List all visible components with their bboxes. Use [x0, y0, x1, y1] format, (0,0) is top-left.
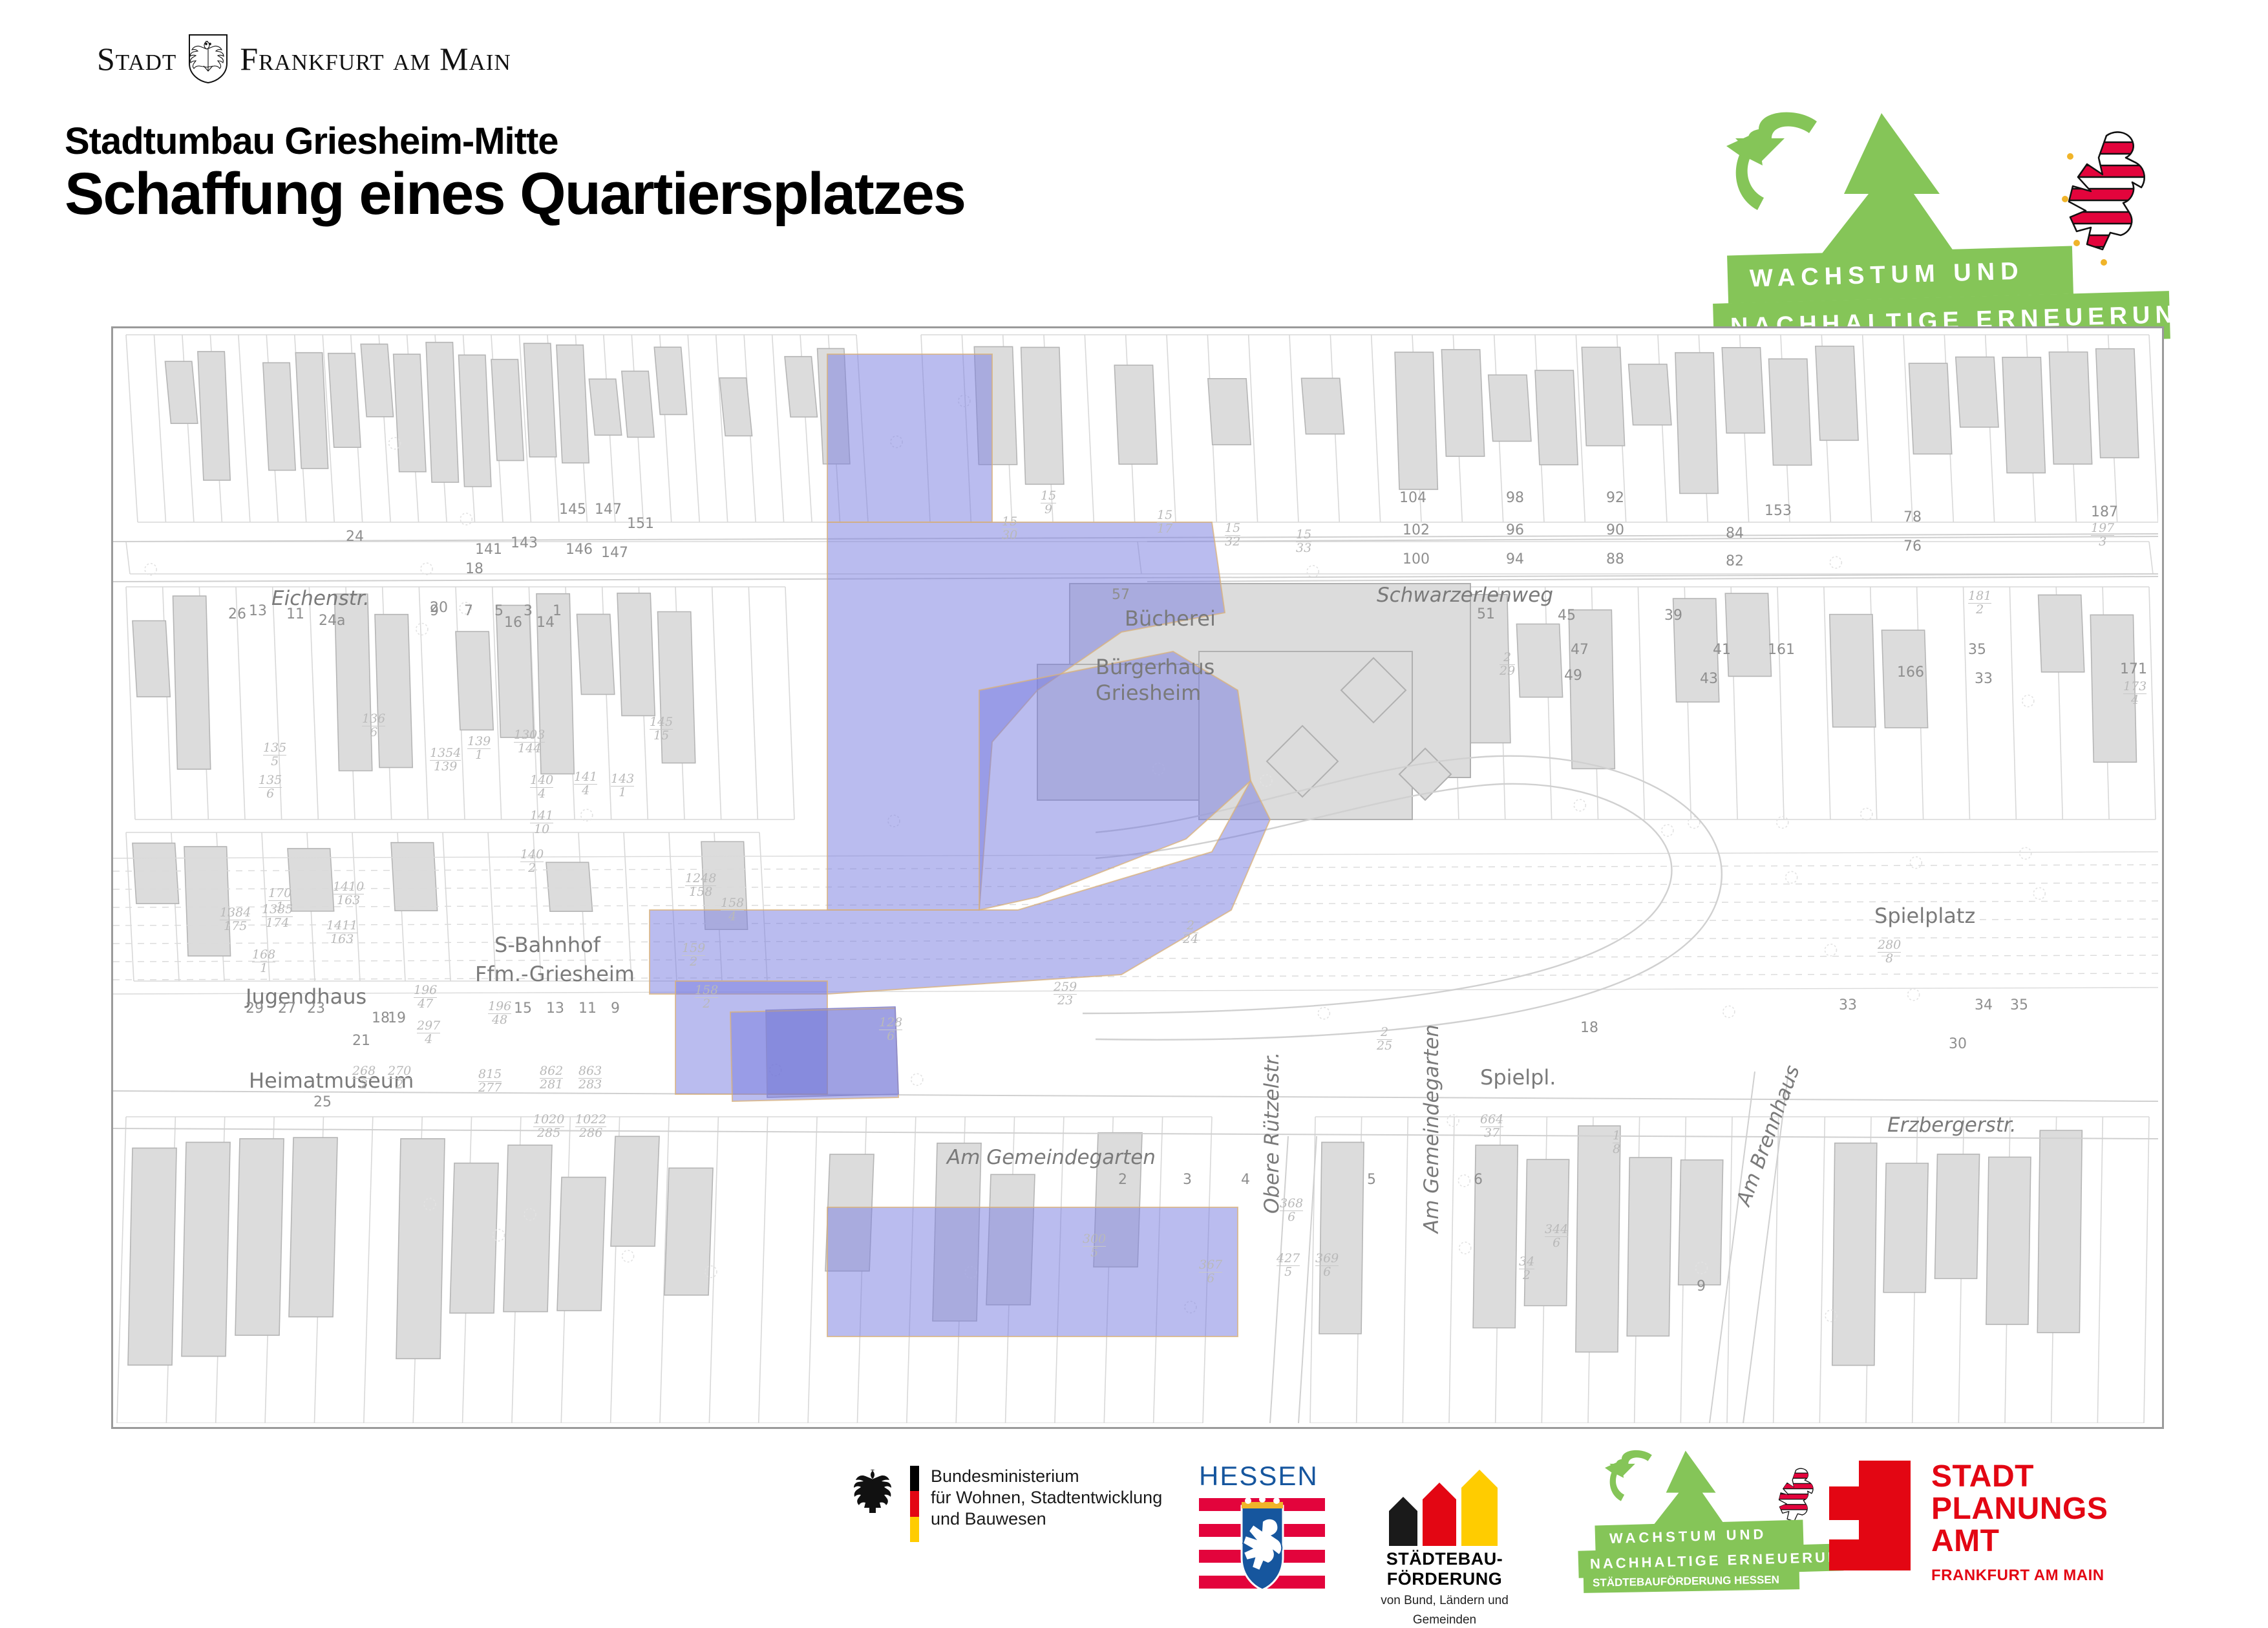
house-number: 57 [1112, 587, 1130, 603]
green-arrow-tree-icon [1720, 110, 2024, 271]
parcel-denominator: 6 [266, 787, 274, 801]
house-number: 9 [1697, 1278, 1706, 1295]
parcel-denominator: 30 [1002, 528, 1017, 542]
street-label-obere-ruetzelstr: Obere Rützelstr. [1260, 1052, 1284, 1214]
bmwsb-line2: für Wohnen, Stadtentwicklung [931, 1487, 1162, 1508]
house-number: 104 [1399, 490, 1426, 506]
parcel-numerator: 270 [388, 1065, 411, 1079]
house-number: 90 [1606, 522, 1624, 538]
hessen-wordmark: HESSEN [1199, 1461, 1325, 1492]
house-number: 151 [627, 516, 654, 532]
house-number: 14 [536, 615, 555, 631]
parcel-numerator: 2 [1377, 1026, 1392, 1040]
parcel-number: 1410163 [333, 881, 364, 907]
hessen-logo: HESSEN [1199, 1461, 1325, 1596]
house-number: 98 [1506, 490, 1524, 506]
parcel-denominator: 48 [492, 1013, 507, 1027]
parcel-number: 1584 [721, 897, 744, 923]
house-number: 5 [494, 603, 503, 619]
street-label-erzbergerstr: Erzbergerstr. [1887, 1114, 2017, 1137]
house-number: 29 [246, 1000, 264, 1017]
parcel-numerator: 139 [467, 735, 491, 749]
parcel-numerator: 197 [2091, 522, 2114, 536]
parcel-denominator: 1 [276, 900, 284, 914]
place-label-buergerhaus: Bürgerhaus [1096, 655, 1214, 679]
parcel-number: 66437 [1480, 1114, 1503, 1139]
parcel-number: 1973 [2091, 522, 2114, 548]
poster-footer: Bundesministerium für Wohnen, Stadtentwi… [0, 1441, 2268, 1603]
spa-line3: AMT [1931, 1525, 2108, 1558]
house-number: 33 [1975, 671, 1993, 687]
house-number: 24 [346, 529, 364, 545]
house-number: 11 [578, 1000, 597, 1017]
parcel-denominator: 4 [582, 783, 589, 798]
parcel-numerator: 1020 [533, 1114, 564, 1127]
parcel-denominator: 4 [538, 787, 546, 801]
street-label-schwarzerlenweg: Schwarzerlenweg [1377, 584, 1553, 607]
parcel-denominator: 3 [2099, 534, 2106, 549]
parcel-denominator: 2 [690, 955, 697, 969]
street-label-am-gemeindegarten-vertical: Am Gemeindegarten [1420, 1024, 1443, 1233]
parcel-denominator: 2 [528, 861, 536, 875]
house-number: 21 [352, 1033, 370, 1049]
parcel-denominator: 17 [1157, 522, 1172, 536]
map-vector-layer [113, 328, 2158, 1423]
parcel-numerator: 1248 [685, 872, 716, 886]
parcel-numerator: 862 [540, 1065, 563, 1079]
parcel-denominator: 5 [1090, 1245, 1098, 1260]
parcel-denominator: 15 [653, 728, 669, 743]
parcel-numerator: 145 [650, 716, 673, 730]
house-number: 24a [319, 613, 345, 629]
parcel-number: 1391 [467, 735, 491, 761]
parcel-numerator: 1354 [430, 747, 461, 761]
house-number: 92 [1606, 490, 1624, 506]
german-flag-bar-icon [910, 1466, 919, 1542]
parcel-denominator: 9 [1044, 502, 1052, 516]
parcel-number: 2702 [388, 1065, 411, 1091]
parcel-number: 18 [1613, 1130, 1620, 1156]
parcel-numerator: 128 [879, 1017, 902, 1030]
parcel-numerator: 196 [488, 1000, 511, 1014]
house-number: 25 [313, 1094, 332, 1110]
bmwsb-line1: Bundesministerium [931, 1466, 1162, 1487]
parcel-numerator: 268 [352, 1065, 376, 1079]
house-number: 7 [464, 603, 473, 619]
house-number: 18 [465, 561, 483, 577]
bmwsb-line3: und Bauwesen [931, 1508, 1162, 1530]
parcel-denominator: 2 [703, 997, 710, 1011]
house-number: 166 [1897, 664, 1924, 681]
parcel-denominator: 1 [619, 785, 626, 799]
parcel-numerator: 863 [578, 1065, 602, 1079]
house-number: 171 [2120, 661, 2147, 677]
house-number: 13 [249, 603, 267, 619]
parcel-number: 342 [1519, 1256, 1534, 1282]
house-number: 82 [1726, 553, 1744, 569]
parcel-number: 1022286 [575, 1114, 606, 1139]
place-label-griesheim: Griesheim [1096, 681, 1201, 705]
wne-band-staedtebau: STÄDTEBAUFÖRDERUNG HESSEN [1584, 1570, 1799, 1593]
parcel-denominator: 277 [478, 1081, 502, 1095]
parcel-number: 862281 [540, 1065, 563, 1091]
parcel-number: 224 [1183, 920, 1198, 946]
parcel-denominator: 5 [1284, 1265, 1292, 1279]
house-number: 26 [228, 606, 246, 622]
house-number: 34 [1975, 997, 1993, 1013]
house-number: 11 [286, 606, 304, 622]
parcel-number: 1592 [682, 942, 705, 968]
parcel-numerator: 34 [1519, 1256, 1534, 1269]
parcel-numerator: 141 [574, 771, 597, 785]
three-houses-icon [1380, 1468, 1509, 1546]
house-number: 161 [1768, 642, 1795, 658]
house-number: 153 [1765, 503, 1792, 519]
house-number: 145 [559, 502, 586, 518]
parcel-number: 25923 [1054, 981, 1077, 1007]
parcel-denominator: 174 [266, 916, 289, 930]
parcel-denominator: 8 [1885, 951, 1893, 966]
parcel-number: 1530 [1002, 516, 1017, 542]
city-brand-frankfurt: Frankfurt am Main [240, 40, 511, 78]
bundesadler-icon [853, 1466, 898, 1525]
parcel-denominator: 163 [337, 893, 360, 907]
house-number: 147 [601, 545, 628, 561]
parcel-numerator: 1411 [326, 920, 357, 933]
parcel-number: 1020285 [533, 1114, 564, 1139]
parcel-numerator: 158 [695, 984, 718, 998]
parcel-numerator: 15 [1157, 509, 1172, 523]
parcel-number: 1734 [2123, 681, 2146, 706]
parcel-number: 1533 [1296, 529, 1311, 555]
house-number: 15 [514, 1000, 532, 1017]
bmwsb-logo: Bundesministerium für Wohnen, Stadtentwi… [853, 1466, 1162, 1542]
parcel-numerator: 815 [478, 1068, 502, 1082]
parcel-number: 225 [1377, 1026, 1392, 1052]
parcel-number: 3676 [1199, 1259, 1222, 1285]
parcel-number: 19647 [414, 984, 437, 1010]
spa-text: STADT PLANUNGS AMT FRANKFURT AM MAIN [1931, 1461, 2108, 1585]
house-number: 146 [566, 542, 593, 558]
parcel-number: 1355 [263, 742, 286, 768]
parcel-numerator: 196 [414, 984, 437, 998]
parcel-denominator: 25 [1377, 1039, 1392, 1053]
parcel-denominator: 144 [518, 741, 541, 756]
parcel-number: 1582 [695, 984, 718, 1010]
house-number: 94 [1506, 551, 1524, 567]
parcel-denominator: 47 [418, 997, 433, 1011]
parcel-numerator: 158 [721, 897, 744, 911]
parcel-numerator: 297 [417, 1020, 440, 1033]
parcel-denominator: 2 [1976, 602, 1984, 617]
parcel-number: 3696 [1315, 1253, 1339, 1278]
house-number: 16 [504, 615, 522, 631]
parcel-number: 1354139 [430, 747, 461, 773]
parcel-number: 1517 [1157, 509, 1172, 535]
city-brand-stadt: Stadt [97, 40, 176, 78]
parcel-numerator: 300 [1083, 1233, 1106, 1247]
house-number: 49 [1564, 668, 1582, 684]
house-number: 4 [1241, 1172, 1250, 1188]
parcel-numerator: 1384 [220, 907, 251, 920]
house-number: 187 [2091, 504, 2118, 520]
place-label-jugendhaus: Jugendhaus [246, 984, 366, 1009]
house-number: 35 [1968, 642, 1986, 658]
parcel-numerator: 2 [1500, 651, 1515, 665]
parcel-denominator: 4 [425, 1032, 432, 1046]
wachstum-erneuerung-logo: WACHSTUM UND NACHHALTIGE ERNEUERUNG STÄD… [1577, 1455, 1849, 1591]
house-number: 100 [1403, 551, 1430, 567]
house-number: 23 [307, 1000, 325, 1017]
parcel-number: 159 [1041, 490, 1056, 516]
place-label-spielpl: Spielpl. [1480, 1065, 1556, 1090]
parcel-denominator: 4 [2131, 693, 2139, 707]
parcel-number: 1431 [611, 773, 634, 799]
parcel-numerator: 135 [259, 774, 282, 788]
house-number: 51 [1477, 606, 1495, 622]
parcel-numerator: 427 [1277, 1253, 1300, 1266]
house-number: 88 [1606, 551, 1624, 567]
house-number: 76 [1903, 538, 1922, 555]
parcel-denominator: 286 [579, 1126, 602, 1140]
house-number: 147 [595, 502, 622, 518]
house-number: 41 [1713, 642, 1731, 658]
place-label-ffm-griesheim: Ffm.-Griesheim [475, 962, 635, 986]
sbf-sub2: Gemeinden [1380, 1613, 1509, 1628]
parcel-numerator: 143 [611, 773, 634, 787]
parcel-numerator: 1022 [575, 1114, 606, 1127]
parcel-number: 2974 [417, 1020, 440, 1046]
house-number: 141 [475, 542, 502, 558]
green-arrow-tree-icon [1584, 1449, 1777, 1533]
parcel-number: 1303144 [514, 729, 545, 755]
parcel-numerator: 369 [1315, 1253, 1339, 1266]
house-number: 96 [1506, 522, 1524, 538]
city-brand: Stadt Frankfurt am Main [97, 34, 511, 84]
parcel-numerator: 136 [362, 713, 385, 726]
parcel-numerator: 140 [520, 849, 544, 862]
parcel-denominator: 2 [1523, 1268, 1531, 1282]
house-number: 35 [2010, 997, 2028, 1013]
parcel-numerator: 15 [1041, 490, 1056, 503]
parcel-numerator: 1 [1613, 1130, 1620, 1143]
parcel-denominator: 33 [1296, 541, 1311, 555]
house-number: 3 [524, 603, 533, 619]
parcel-denominator: 163 [330, 932, 354, 946]
frankfurt-eagle-crest-icon [188, 34, 228, 84]
parcel-numerator: 135 [263, 742, 286, 756]
parcel-denominator: 2 [396, 1077, 403, 1092]
house-number: 78 [1903, 509, 1922, 525]
parcel-numerator: 168 [252, 949, 275, 962]
parcel-denominator: 23 [1057, 993, 1073, 1008]
stadtplanungsamt-block-icon [1829, 1461, 1911, 1570]
poster-title: Schaffung eines Quartiersplatzes [65, 160, 965, 228]
parcel-number: 3446 [1545, 1223, 1568, 1249]
parcel-denominator: 6 [1323, 1265, 1331, 1279]
house-number: 30 [1949, 1036, 1967, 1052]
parcel-numerator: 2 [1183, 920, 1198, 933]
parcel-denominator: 1 [260, 961, 268, 975]
parcel-numerator: 1303 [514, 729, 545, 743]
place-label-s-bahnhof: S-Bahnhof [494, 933, 600, 957]
house-number: 9 [430, 603, 439, 619]
parcel-denominator: 4 [728, 909, 736, 924]
parcel-denominator: 8 [1613, 1142, 1620, 1156]
parcel-number: 863283 [578, 1065, 602, 1091]
parcel-number: 1812 [1968, 590, 1991, 616]
house-number: 45 [1558, 608, 1576, 624]
parcel-number: 14110 [530, 810, 553, 836]
parcel-number: 1681 [252, 949, 275, 975]
parcel-number: 4275 [1277, 1253, 1300, 1278]
parcel-denominator: 6 [887, 1029, 895, 1043]
parcel-denominator: 139 [434, 759, 457, 774]
parcel-numerator: 170 [268, 887, 291, 901]
parcel-numerator: 173 [2123, 681, 2146, 694]
sbf-sub1: von Bund, Ländern und [1380, 1594, 1509, 1609]
parcel-numerator: 664 [1480, 1114, 1503, 1127]
cadastral-map[interactable]: Eichenstr. Schwarzerlenweg Am Gemeindega… [111, 326, 2164, 1429]
house-number: 43 [1700, 671, 1718, 687]
parcel-denominator: 281 [540, 1077, 563, 1092]
parcel-numerator: 259 [1054, 981, 1077, 995]
house-number: 5 [1367, 1172, 1376, 1188]
parcel-numerator: 367 [1199, 1259, 1222, 1273]
parcel-numerator: 368 [1280, 1198, 1303, 1211]
parcel-number: 1402 [520, 849, 544, 874]
parcel-numerator: 344 [1545, 1223, 1568, 1237]
parcel-number: 3005 [1083, 1233, 1106, 1259]
parcel-number: 1356 [259, 774, 282, 800]
parcel-denominator: 6 [1553, 1236, 1560, 1250]
parcel-numerator: 141 [530, 810, 553, 823]
parcel-numerator: 140 [530, 774, 553, 788]
parcel-denominator: 37 [1484, 1126, 1500, 1140]
poster-subtitle: Stadtumbau Griesheim-Mitte [65, 120, 558, 163]
parcel-number: 1532 [1225, 522, 1240, 548]
spa-line1: STADT [1931, 1461, 2108, 1493]
house-number: 102 [1403, 522, 1430, 538]
parcel-denominator: 175 [224, 919, 247, 933]
parcel-number: 1248158 [685, 872, 716, 898]
parcel-denominator: 1 [475, 748, 483, 762]
house-number: 3 [1183, 1172, 1192, 1188]
hessen-coat-of-arms-icon [1199, 1496, 1325, 1592]
parcel-numerator: 15 [1296, 529, 1311, 542]
parcel-number: 14515 [650, 716, 673, 742]
parcel-numerator: 15 [1225, 522, 1240, 536]
parcel-number: 19648 [488, 1000, 511, 1026]
house-number: 13 [546, 1000, 564, 1017]
street-label-am-gemeindegarten: Am Gemeindegarten [947, 1146, 1156, 1169]
parcel-number: 1366 [362, 713, 385, 739]
parcel-denominator: 285 [537, 1126, 560, 1140]
stadtplanungsamt-logo: STADT PLANUNGS AMT FRANKFURT AM MAIN [1829, 1461, 2108, 1585]
house-number: 18 [1580, 1020, 1598, 1036]
poster-header: Stadt Frankfurt am Main Stadtumbau Gries… [0, 0, 2268, 304]
place-label-spielplatz: Spielplatz [1874, 904, 1975, 928]
parcel-denominator: 6 [1288, 1210, 1295, 1224]
house-number: 27 [278, 1000, 296, 1017]
parcel-denominator: 6 [370, 725, 377, 739]
parcel-number: 2808 [1878, 939, 1901, 965]
parcel-number: 1384175 [220, 907, 251, 933]
house-number: 84 [1726, 525, 1744, 542]
spa-line2: PLANUNGS [1931, 1493, 2108, 1525]
parcel-denominator: 29 [1500, 664, 1515, 678]
parcel-numerator: 181 [1968, 590, 1991, 604]
parcel-number: 1411163 [326, 920, 357, 946]
house-number: 18 [372, 1010, 390, 1026]
parcel-numerator: 159 [682, 942, 705, 956]
parcel-number: 229 [1500, 651, 1515, 677]
parcel-number: 1414 [574, 771, 597, 797]
house-number: 47 [1571, 642, 1589, 658]
staedtebaufoerderung-logo: STÄDTEBAU- FÖRDERUNG von Bund, Ländern u… [1380, 1468, 1509, 1628]
parcel-denominator: 5 [271, 754, 279, 768]
parcel-number: 815277 [478, 1068, 502, 1094]
parcel-denominator: 24 [1183, 932, 1198, 946]
house-number: 143 [511, 535, 538, 551]
parcel-numerator: 1410 [333, 881, 364, 894]
house-number: 39 [1664, 608, 1682, 624]
house-number: 33 [1839, 997, 1857, 1013]
parcel-numerator: 280 [1878, 939, 1901, 953]
sbf-line2: FÖRDERUNG [1380, 1569, 1509, 1589]
parcel-denominator: 10 [534, 822, 549, 836]
parcel-denominator: 6 [1207, 1271, 1214, 1285]
parcel-number: 2682 [352, 1065, 376, 1091]
house-number: 9 [611, 1000, 620, 1017]
place-label-buecherei: Bücherei [1125, 606, 1216, 631]
bmwsb-text: Bundesministerium für Wohnen, Stadtentwi… [931, 1466, 1162, 1530]
parcel-denominator: 283 [578, 1077, 602, 1092]
parcel-denominator: 32 [1225, 534, 1240, 549]
spa-sub: FRANKFURT AM MAIN [1931, 1567, 2108, 1585]
house-number: 19 [388, 1010, 406, 1026]
sbf-line1: STÄDTEBAU- [1380, 1549, 1509, 1569]
parcel-number: 3686 [1280, 1198, 1303, 1223]
parcel-number: 1404 [530, 774, 553, 800]
house-number: 2 [1118, 1172, 1127, 1188]
parcel-denominator: 2 [360, 1077, 368, 1092]
house-number: 1 [553, 603, 562, 619]
parcel-denominator: 158 [689, 885, 712, 899]
parcel-number: 1286 [879, 1017, 902, 1042]
house-number: 6 [1474, 1172, 1483, 1188]
parcel-number: 1701 [268, 887, 291, 913]
parcel-numerator: 15 [1002, 516, 1017, 529]
